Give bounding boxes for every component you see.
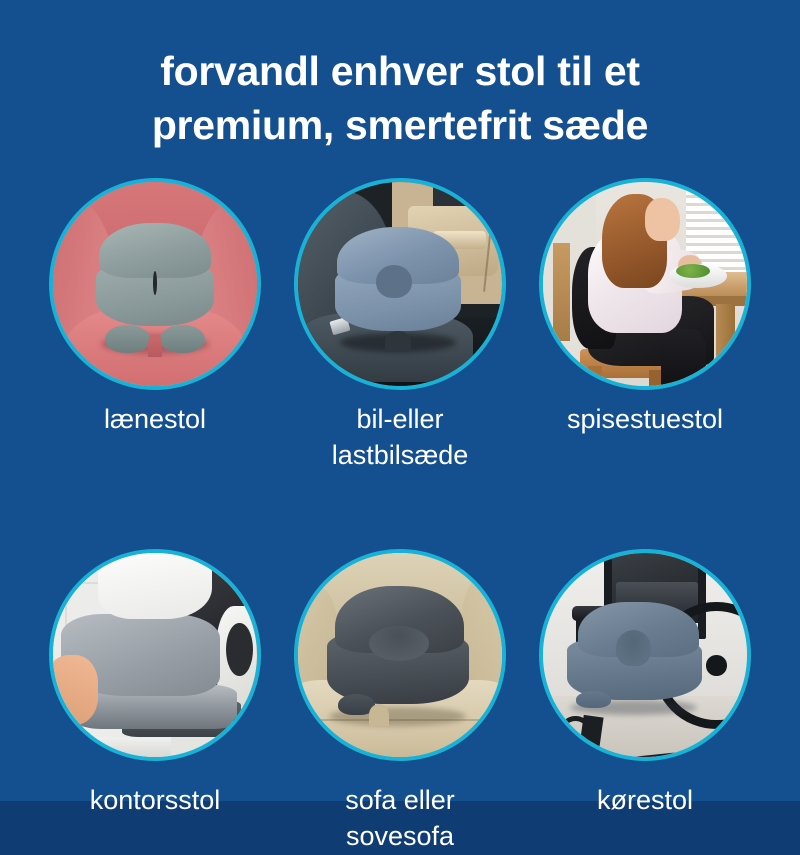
seat-cushion-icon <box>327 586 470 721</box>
seat-cushion-icon <box>96 223 214 349</box>
page-title: forvandl enhver stol til et premium, sme… <box>0 44 800 152</box>
use-case-item-armchair[interactable]: lænestol <box>40 178 270 438</box>
use-case-row-1: lænestol <box>40 178 760 473</box>
circle-border-dining-chair <box>539 178 751 390</box>
salad-icon <box>676 264 711 278</box>
use-case-item-car-seat[interactable]: bil-eller lastbilsæde <box>285 178 515 473</box>
car-seat-photo <box>298 182 502 386</box>
image-circle-armchair <box>49 178 261 390</box>
circle-border-armchair <box>49 178 261 390</box>
use-case-label-dining-chair: spisestuestol <box>567 402 723 438</box>
image-circle-car-seat <box>294 178 506 390</box>
headline-line-2: premium, smertefrit sæde <box>0 98 800 152</box>
headline-line-1: forvandl enhver stol til et <box>0 44 800 98</box>
image-circle-sofa <box>294 549 506 761</box>
sofa-photo <box>298 553 502 757</box>
use-case-item-dining-chair[interactable]: spisestuestol <box>530 178 760 438</box>
seat-cushion-icon <box>335 227 461 345</box>
use-case-label-wheelchair: kørestol <box>597 783 693 819</box>
image-circle-dining-chair <box>539 178 751 390</box>
use-case-label-car-seat: bil-eller lastbilsæde <box>285 402 515 473</box>
office-chair-photo <box>53 553 257 757</box>
use-case-item-sofa[interactable]: sofa eller sovesofa <box>285 549 515 854</box>
face-icon <box>645 198 680 241</box>
wheelchair-photo <box>543 553 747 757</box>
circle-border-sofa <box>294 549 506 761</box>
caster-wheel-icon <box>559 716 592 749</box>
circle-border-car-seat <box>294 178 506 390</box>
dining-chair-photo <box>543 182 747 386</box>
use-case-label-sofa: sofa eller sovesofa <box>345 783 455 854</box>
use-case-grid: lænestol <box>40 178 760 855</box>
use-case-label-armchair: lænestol <box>104 402 206 438</box>
product-infographic-poster: forvandl enhver stol til et premium, sme… <box>0 0 800 801</box>
use-case-label-office-chair: kontorsstol <box>90 783 221 819</box>
image-circle-office-chair <box>49 549 261 761</box>
use-case-row-2: kontorsstol <box>40 549 760 854</box>
image-circle-wheelchair <box>539 549 751 761</box>
seat-cushion-icon <box>567 602 702 708</box>
circle-border-wheelchair <box>539 549 751 761</box>
circle-border-office-chair <box>49 549 261 761</box>
use-case-item-wheelchair[interactable]: kørestol <box>530 549 760 819</box>
use-case-item-office-chair[interactable]: kontorsstol <box>40 549 270 819</box>
armchair-photo <box>53 182 257 386</box>
